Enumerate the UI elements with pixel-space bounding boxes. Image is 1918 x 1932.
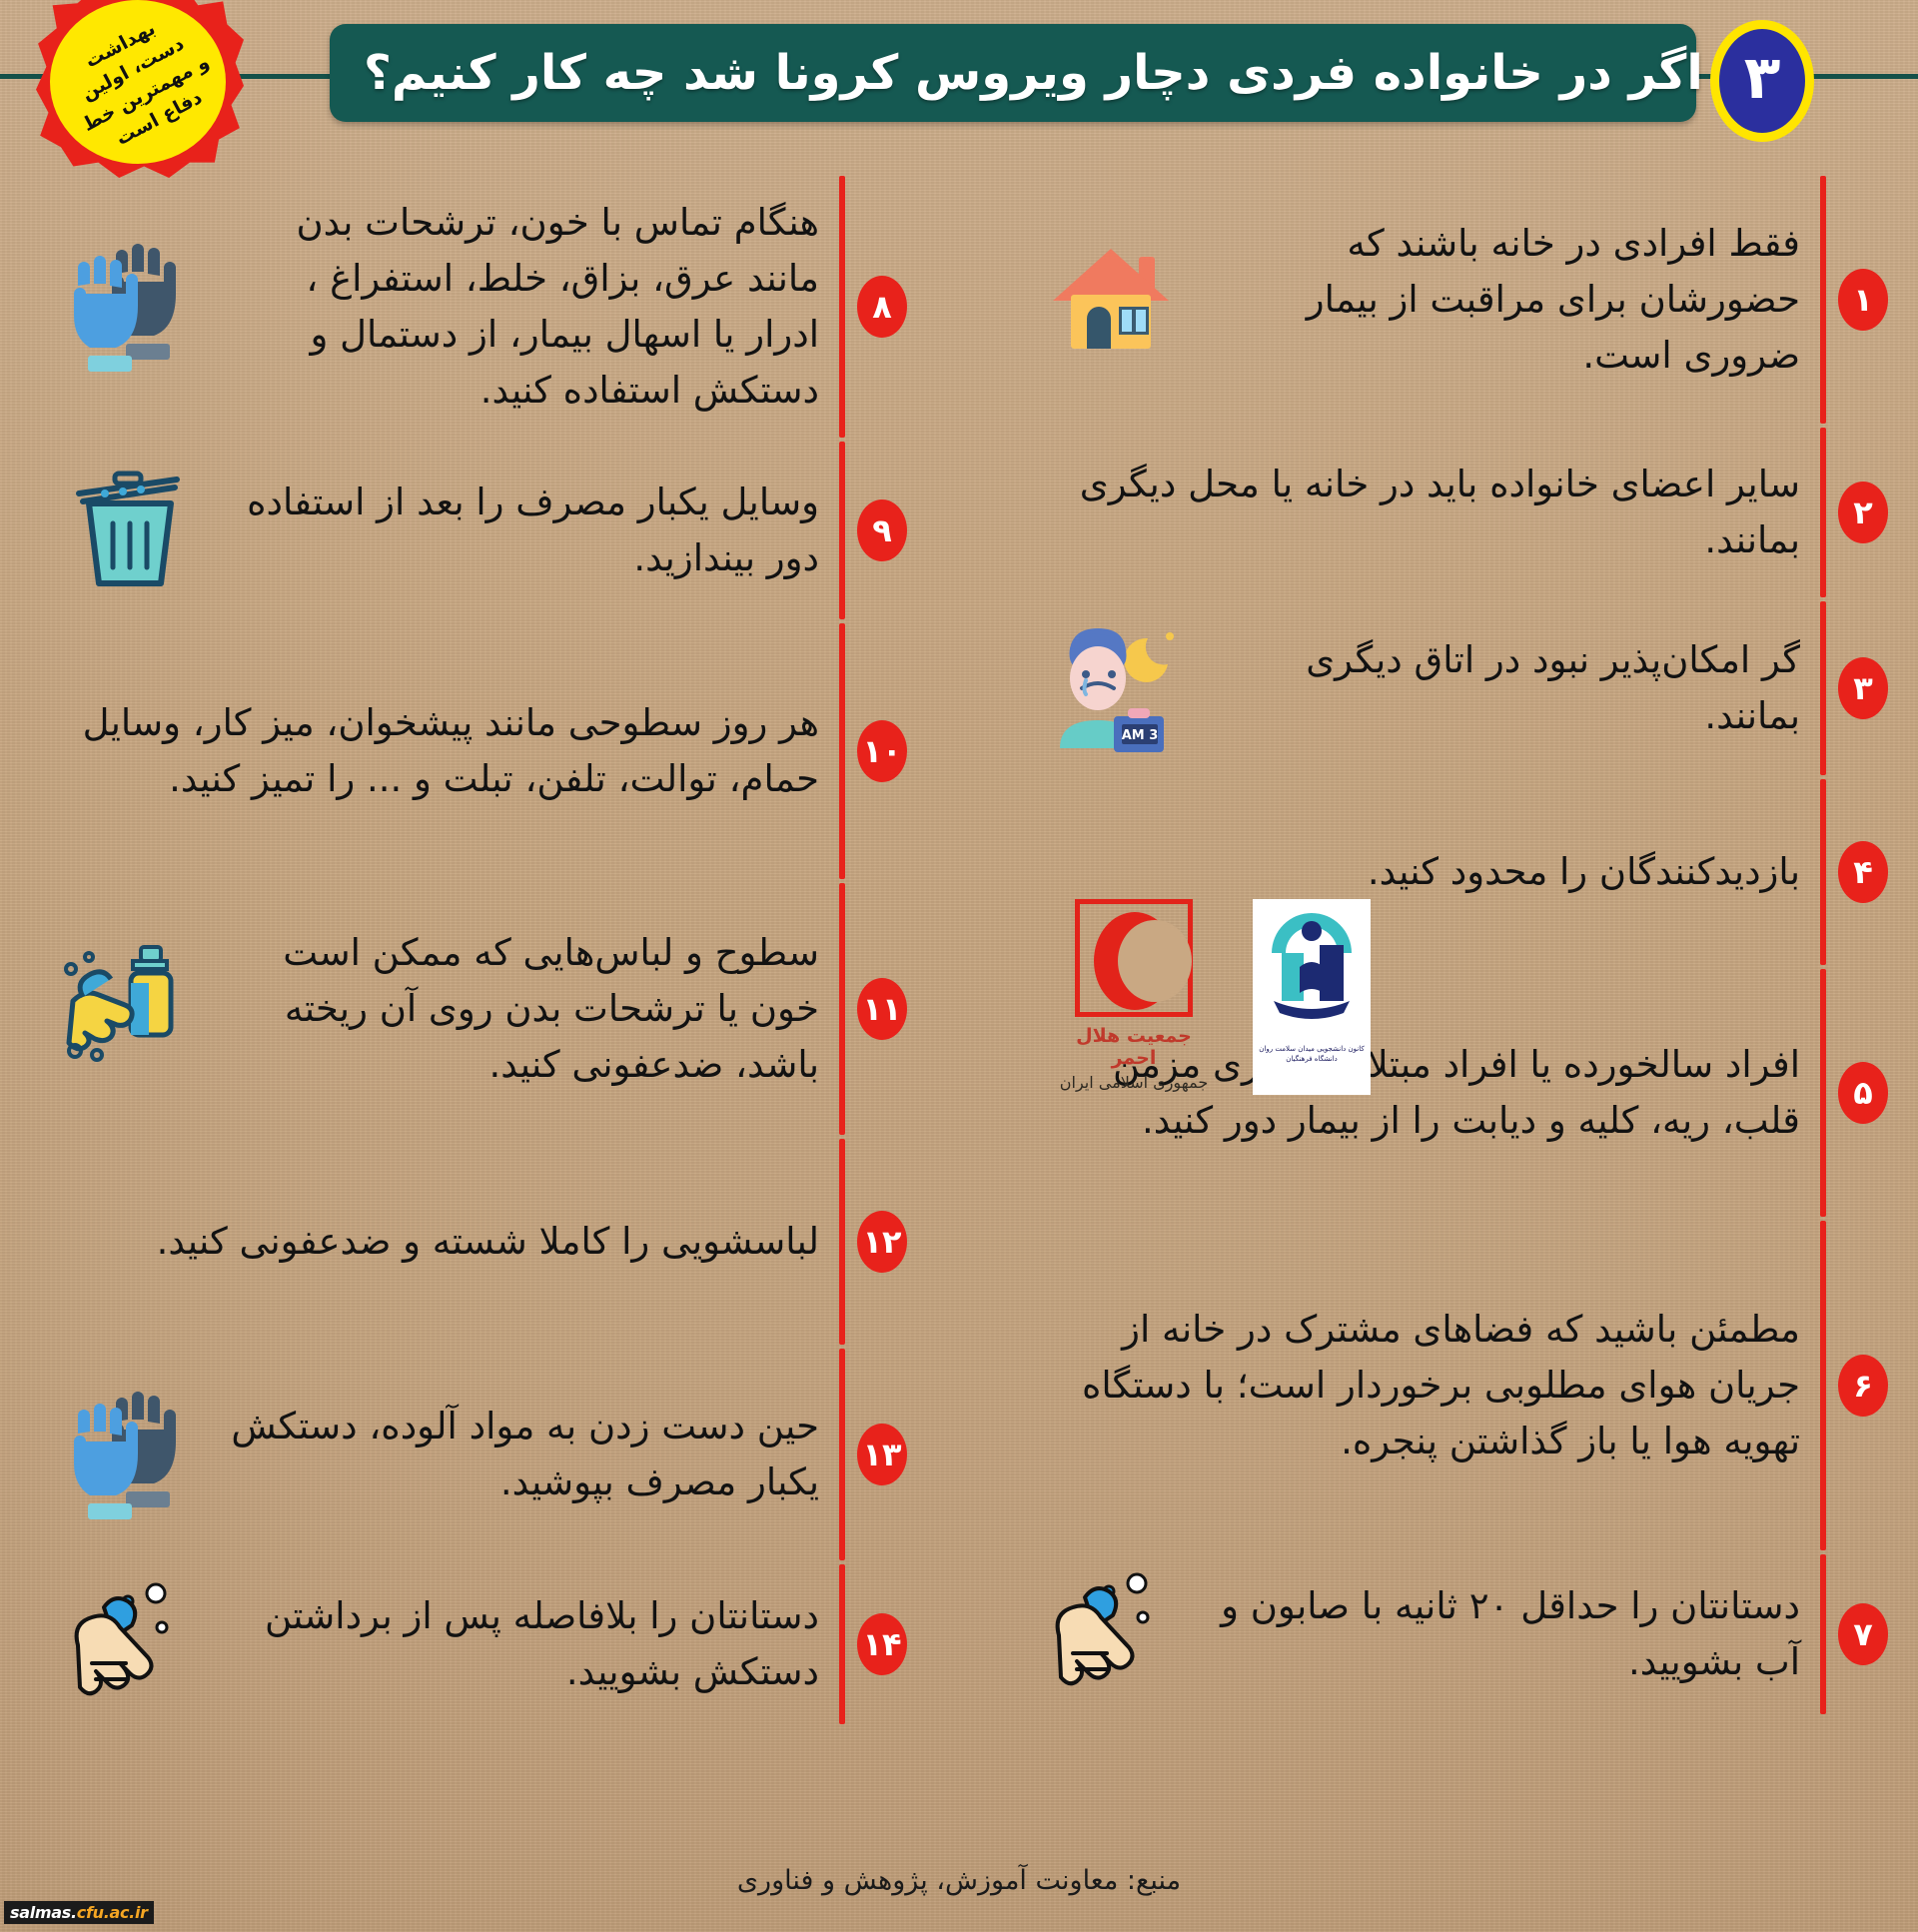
list-item: ۱۲ لباسشویی را کاملا شسته و ضدعفونی کنید… [40, 1139, 919, 1345]
item-number-wrap: ۱۰ [845, 623, 919, 879]
item-number-badge: ۱۴ [857, 1613, 907, 1675]
step-number-label: ۳ [1744, 48, 1781, 108]
item-number-badge: ۱۳ [857, 1424, 907, 1485]
item-number-label: ۵ [1853, 1077, 1873, 1109]
watermark-prefix: salmas. [10, 1903, 77, 1922]
item-number-label: ۳ [1853, 672, 1873, 704]
item-number-wrap: ۶ [1826, 1221, 1900, 1550]
sick-person-night-icon: 3 AM [1021, 601, 1201, 775]
footer: منبع: معاونت آموزش، پژوهش و فناوری [0, 1865, 1918, 1896]
organization-logos: جمعیت هلال احمر جمهوری اسلامی ایران کانو… [1059, 899, 1371, 1095]
item-text: سطوح و لباس‌هایی که ممکن است خون یا ترشح… [226, 925, 819, 1094]
item-body: لباسشویی را کاملا شسته و ضدعفونی کنید. [40, 1139, 833, 1345]
university-caption: کانون دانشجویی میدان سلامت روان دانشگاه … [1253, 1045, 1371, 1065]
red-crescent-name: جمعیت هلال احمر [1059, 1025, 1209, 1069]
item-number-wrap: ۱۲ [845, 1139, 919, 1345]
item-text: هنگام تماس با خون، ترشحات بدن مانند عرق،… [226, 195, 819, 420]
list-item: ۱۳ حین دست زدن به مواد آلوده، دستکش یکبا… [40, 1349, 919, 1560]
item-number-label: ۱۰ [862, 735, 901, 767]
svg-text:3 AM: 3 AM [1122, 728, 1159, 743]
handwash-icon [1021, 1554, 1201, 1714]
item-number-badge: ۲ [1838, 482, 1888, 543]
item-body: دستانتان را حداقل ۲۰ ثانیه با صابون و آب… [1201, 1554, 1814, 1714]
infographic-page: اگر در خانواده فردی دچار ویروس کرونا شد … [0, 0, 1918, 1932]
item-number-label: ۱۱ [862, 993, 901, 1025]
item-number-wrap: ۲ [1826, 428, 1900, 597]
item-number-label: ۸ [872, 291, 892, 323]
source-text: منبع: معاونت آموزش، پژوهش و فناوری [737, 1865, 1181, 1896]
item-body: گر امکان‌پذیر نبود در اتاق دیگری بمانند. [1201, 601, 1814, 775]
item-text: فقط افرادی در خانه باشند که حضورشان برای… [1207, 216, 1800, 385]
list-item: ۷ دستانتان را حداقل ۲۰ ثانیه با صابون و … [1021, 1554, 1900, 1714]
sanitizer-icon [40, 883, 220, 1135]
item-number-wrap: ۱۴ [845, 1564, 919, 1724]
item-text: گر امکان‌پذیر نبود در اتاق دیگری بمانند. [1207, 632, 1800, 744]
item-number-label: ۱۴ [862, 1628, 901, 1660]
university-emblem-icon [1260, 905, 1364, 1041]
list-item: ۱ فقط افرادی در خانه باشند که حضورشان بر… [1021, 176, 1900, 424]
item-number-label: ۱۲ [862, 1226, 901, 1258]
item-body: هر روز سطوحی مانند پیشخوان، میز کار، وسا… [40, 623, 833, 879]
item-body: سطوح و لباس‌هایی که ممکن است خون یا ترشح… [220, 883, 833, 1135]
red-crescent-icon [1075, 899, 1193, 1017]
item-number-label: ۱۳ [862, 1439, 901, 1470]
left-column: ۸ هنگام تماس با خون، ترشحات بدن مانند عر… [40, 176, 919, 1728]
page-title-bar: اگر در خانواده فردی دچار ویروس کرونا شد … [330, 24, 1696, 122]
list-item: ۱۴ دستانتان را بلافاصله پس از برداشتن دس… [40, 1564, 919, 1724]
trash-bin-icon [40, 442, 220, 619]
item-body: فقط افرادی در خانه باشند که حضورشان برای… [1201, 176, 1814, 424]
item-number-wrap: ۳ [1826, 601, 1900, 775]
item-text: لباسشویی را کاملا شسته و ضدعفونی کنید. [46, 1214, 819, 1270]
item-number-wrap: ۱ [1826, 176, 1900, 424]
item-text: مطمئن باشید که فضاهای مشترک در خانه از ج… [1027, 1302, 1800, 1470]
item-body: مطمئن باشید که فضاهای مشترک در خانه از ج… [1021, 1221, 1814, 1550]
item-text: بازدیدکنندگان را محدود کنید. [1027, 844, 1800, 900]
watermark-domain: cfu.ac.ir [77, 1903, 148, 1922]
item-body: سایر اعضای خانواده باید در خانه یا محل د… [1021, 428, 1814, 597]
item-number-wrap: ۴ [1826, 779, 1900, 965]
item-text: دستانتان را بلافاصله پس از برداشتن دستکش… [226, 1588, 819, 1700]
item-number-label: ۶ [1853, 1370, 1873, 1402]
item-text: حین دست زدن به مواد آلوده، دستکش یکبار م… [226, 1399, 819, 1510]
hand-hygiene-splash-badge: بهداشت دست، اولین و مهمترین خط دفاع است [36, 0, 244, 178]
red-crescent-country: جمهوری اسلامی ایران [1059, 1073, 1209, 1092]
item-number-wrap: ۷ [1826, 1554, 1900, 1714]
item-number-badge: ۱۰ [857, 720, 907, 782]
item-number-badge: ۱۲ [857, 1211, 907, 1273]
item-text: سایر اعضای خانواده باید در خانه یا محل د… [1027, 457, 1800, 568]
gloves-icon [40, 176, 220, 438]
item-number-label: ۹ [872, 514, 892, 546]
list-item: ۱۰ هر روز سطوحی مانند پیشخوان، میز کار، … [40, 623, 919, 879]
item-number-badge: ۷ [1838, 1603, 1888, 1665]
list-item: ۱۱ سطوح و لباس‌هایی که ممکن است خون یا ت… [40, 883, 919, 1135]
list-item: ۳ گر امکان‌پذیر نبود در اتاق دیگری بمانن… [1021, 601, 1900, 775]
item-number-badge: ۶ [1838, 1355, 1888, 1417]
house-icon [1021, 176, 1201, 424]
item-number-badge: ۱۱ [857, 978, 907, 1040]
site-watermark: salmas.cfu.ac.ir [4, 1901, 154, 1924]
item-number-badge: ۱ [1838, 269, 1888, 331]
handwash-icon [40, 1564, 220, 1724]
item-number-label: ۴ [1853, 856, 1873, 888]
item-body: هنگام تماس با خون، ترشحات بدن مانند عرق،… [220, 176, 833, 438]
item-text: هر روز سطوحی مانند پیشخوان، میز کار، وسا… [46, 695, 819, 807]
red-crescent-logo: جمعیت هلال احمر جمهوری اسلامی ایران [1059, 899, 1209, 1092]
item-body: دستانتان را بلافاصله پس از برداشتن دستکش… [220, 1564, 833, 1724]
item-number-badge: ۳ [1838, 657, 1888, 719]
item-number-wrap: ۸ [845, 176, 919, 438]
item-number-label: ۱ [1853, 284, 1873, 316]
item-number-wrap: ۵ [1826, 969, 1900, 1217]
item-text: دستانتان را حداقل ۲۰ ثانیه با صابون و آب… [1207, 1578, 1800, 1690]
item-number-badge: ۹ [857, 499, 907, 561]
item-number-badge: ۵ [1838, 1062, 1888, 1124]
gloves-icon [40, 1349, 220, 1560]
list-item: ۶ مطمئن باشید که فضاهای مشترک در خانه از… [1021, 1221, 1900, 1550]
item-number-badge: ۴ [1838, 841, 1888, 903]
item-number-label: ۷ [1853, 1618, 1873, 1650]
step-number-badge: ۳ [1710, 20, 1814, 142]
list-item: ۲ سایر اعضای خانواده باید در خانه یا محل… [1021, 428, 1900, 597]
item-body: حین دست زدن به مواد آلوده، دستکش یکبار م… [220, 1349, 833, 1560]
university-logo: کانون دانشجویی میدان سلامت روان دانشگاه … [1253, 899, 1371, 1095]
item-text: وسایل یکبار مصرف را بعد از استفاده دور ب… [226, 475, 819, 586]
item-number-wrap: ۱۱ [845, 883, 919, 1135]
page-title: اگر در خانواده فردی دچار ویروس کرونا شد … [364, 45, 1703, 101]
list-item: ۹ وسایل یکبار مصرف را بعد از استفاده دور… [40, 442, 919, 619]
item-number-wrap: ۱۳ [845, 1349, 919, 1560]
item-number-label: ۲ [1853, 496, 1873, 528]
item-number-wrap: ۹ [845, 442, 919, 619]
list-item: ۸ هنگام تماس با خون، ترشحات بدن مانند عر… [40, 176, 919, 438]
item-number-badge: ۸ [857, 276, 907, 338]
item-body: وسایل یکبار مصرف را بعد از استفاده دور ب… [220, 442, 833, 619]
